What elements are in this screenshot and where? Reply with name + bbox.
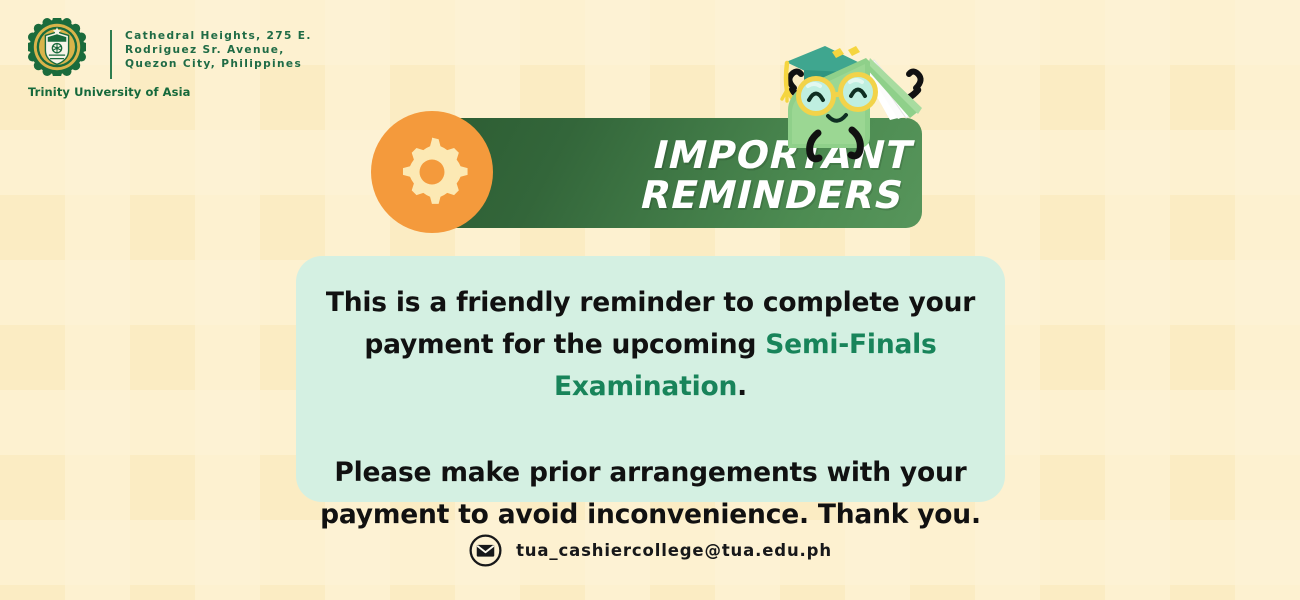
contact-email-row[interactable]: tua_cashiercollege@tua.edu.ph	[0, 533, 1300, 568]
contact-email[interactable]: tua_cashiercollege@tua.edu.ph	[516, 541, 832, 560]
message-p1-part-b: .	[737, 371, 747, 402]
message-paragraph-1: This is a friendly reminder to complete …	[318, 282, 983, 408]
gear-badge	[371, 111, 493, 233]
address-line-1: Cathedral Heights, 275 E.	[125, 29, 312, 43]
reminder-message-card: This is a friendly reminder to complete …	[296, 256, 1005, 502]
book-character-mascot	[770, 18, 942, 183]
address-line-3: Quezon City, Philippines	[125, 57, 312, 71]
poster-canvas: Trinity University of Asia Cathedral Hei…	[0, 0, 1300, 600]
gear-icon	[393, 133, 471, 211]
header-divider	[110, 30, 112, 79]
brand-header: Trinity University of Asia Cathedral Hei…	[28, 18, 312, 99]
address-block: Cathedral Heights, 275 E. Rodriguez Sr. …	[125, 29, 312, 72]
address-line-2: Rodriguez Sr. Avenue,	[125, 43, 312, 57]
university-seal-icon	[28, 18, 86, 76]
seal-block: Trinity University of Asia	[28, 18, 88, 99]
university-name: Trinity University of Asia	[28, 85, 88, 99]
envelope-icon[interactable]	[468, 533, 503, 568]
message-paragraph-2: Please make prior arrangements with your…	[318, 452, 983, 536]
bookmark-stripes	[832, 46, 860, 58]
